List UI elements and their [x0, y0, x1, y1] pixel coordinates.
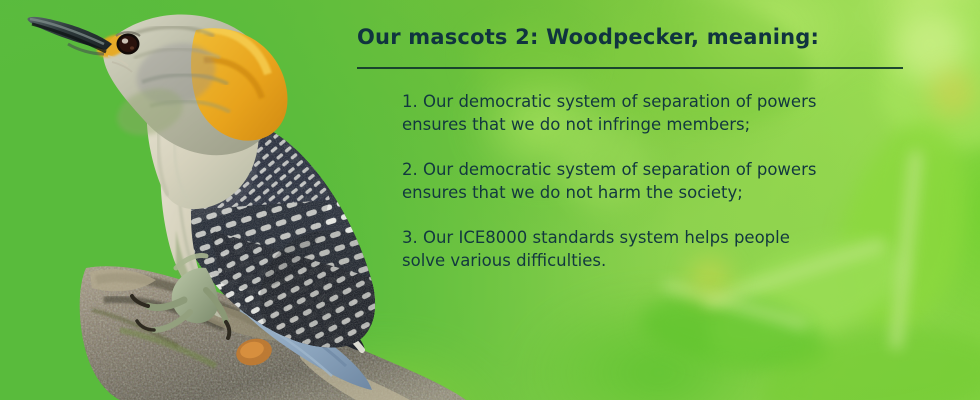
head: [28, 10, 301, 160]
background-bokeh: [930, 70, 976, 116]
list-item: 1. Our democratic system of separation o…: [402, 90, 932, 136]
list-item: 2. Our democratic system of separation o…: [402, 158, 932, 204]
woodpecker-photo: [0, 0, 470, 400]
meaning-list: 1. Our democratic system of separation o…: [402, 90, 932, 272]
list-item: 3. Our ICE8000 standards system helps pe…: [402, 226, 932, 272]
mascot-banner: Our mascots 2: Woodpecker, meaning: 1. O…: [0, 0, 980, 400]
page-title: Our mascots 2: Woodpecker, meaning:: [357, 25, 819, 49]
title-divider: [357, 67, 903, 69]
